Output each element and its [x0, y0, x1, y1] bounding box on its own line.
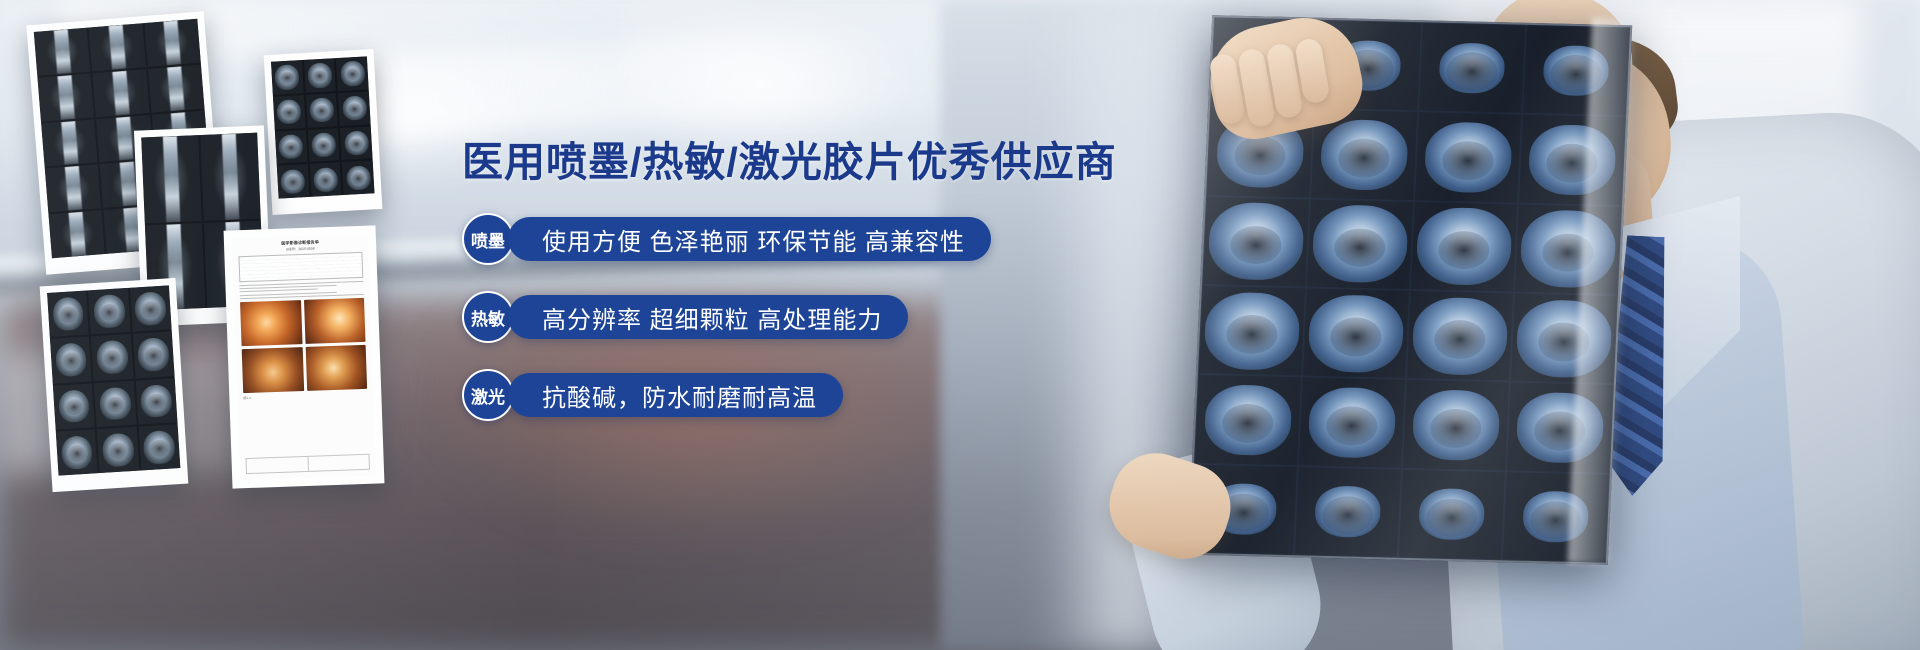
mri-slice — [1199, 286, 1305, 376]
report-image-grid — [240, 298, 367, 393]
film-slice — [88, 288, 130, 335]
feature-tag-thermal: 热敏 — [462, 291, 514, 343]
film-slice — [271, 60, 303, 94]
film-slice — [41, 119, 98, 167]
feature-row-thermal: 热敏 高分辨率 超细颗粒 高处理能力 — [462, 291, 1082, 343]
page-title: 医用喷墨/热敏/激光胶片优秀供应商 — [462, 138, 1082, 187]
banner-content: 医用喷墨/热敏/激光胶片优秀供应商 喷墨 使用方便 色泽艳丽 环保节能 高兼容性… — [462, 138, 1082, 447]
film-slice — [336, 56, 368, 90]
feature-text-thermal: 高分辨率 超细颗粒 高处理能力 — [508, 295, 908, 339]
film-slice — [342, 161, 374, 195]
film-slice — [273, 95, 305, 129]
film-slice — [306, 93, 338, 127]
fundus-photo — [240, 300, 302, 346]
feature-text-inkjet: 使用方便 色泽艳丽 环保节能 高兼容性 — [508, 217, 991, 261]
mri-slice — [1399, 469, 1505, 559]
report-signature-cell — [308, 455, 369, 471]
film-slice — [338, 91, 370, 125]
report-line — [240, 285, 337, 289]
film-slice — [135, 378, 177, 425]
report-signature-table — [245, 454, 369, 474]
report-text-lines — [239, 281, 363, 300]
film-slice — [200, 133, 261, 221]
mri-slice — [1407, 291, 1513, 381]
film-slice — [50, 337, 92, 384]
doctor-figure — [1040, 0, 1920, 650]
film-slice — [48, 210, 105, 258]
medical-film-stack: 医学影像诊断报告单 X线号：2025-0508 图1-4 — [0, 0, 430, 650]
film-slice — [277, 164, 309, 198]
mri-slice — [1411, 202, 1517, 292]
mri-slice — [1415, 113, 1521, 203]
film-slice — [130, 285, 172, 332]
background-light-glow-1 — [600, 8, 920, 158]
film-slice — [45, 165, 102, 213]
film-slice — [340, 126, 372, 160]
film-sheet-brain-mri-top — [264, 49, 383, 215]
film-slice — [94, 380, 136, 427]
film-slice — [34, 28, 91, 76]
film-slice — [47, 291, 89, 338]
film-sheet-brain-mri-bottom — [40, 278, 189, 492]
feature-list: 喷墨 使用方便 色泽艳丽 环保节能 高兼容性 热敏 高分辨率 超细颗粒 高处理能… — [462, 213, 1082, 421]
film-plate — [47, 285, 180, 475]
film-slice — [37, 73, 94, 121]
mri-slice — [1419, 23, 1525, 113]
feature-text-laser: 抗酸碱，防水耐磨耐高温 — [508, 373, 843, 417]
film-slice — [138, 424, 180, 471]
feature-row-inkjet: 喷墨 使用方便 色泽艳丽 环保节能 高兼容性 — [462, 213, 1082, 265]
mri-slice — [1403, 380, 1509, 470]
film-slice — [93, 69, 150, 117]
film-slice — [91, 334, 133, 381]
film-slice — [89, 23, 146, 71]
film-slice — [53, 383, 95, 430]
report-signature-cell — [247, 457, 309, 473]
fundus-photo — [242, 347, 304, 393]
mri-slice — [1295, 467, 1401, 557]
film-plate — [271, 56, 374, 198]
film-slice — [309, 162, 341, 196]
fundus-photo — [304, 298, 366, 344]
feature-row-laser: 激光 抗酸碱，防水耐磨耐高温 — [462, 369, 1082, 421]
film-slice — [97, 426, 139, 473]
film-slice — [304, 58, 336, 92]
film-slice — [275, 129, 307, 163]
banner-stage: 医学影像诊断报告单 X线号：2025-0508 图1-4 — [0, 0, 1920, 650]
mri-slice — [1299, 378, 1405, 468]
report-sheet: 医学影像诊断报告单 X线号：2025-0508 图1-4 — [232, 234, 376, 481]
film-slice — [144, 19, 201, 67]
mri-slice — [1195, 375, 1301, 465]
film-slice-grid — [271, 56, 374, 198]
film-slice — [141, 135, 202, 223]
mri-slice — [1307, 199, 1413, 289]
mri-slice — [1303, 288, 1409, 378]
film-sheet-diagnostic-report: 医学影像诊断报告单 X线号：2025-0508 图1-4 — [224, 225, 385, 488]
report-info-box — [238, 252, 363, 282]
mri-slice — [1203, 197, 1309, 287]
film-slice — [307, 128, 339, 162]
fundus-photo — [305, 345, 367, 391]
film-slice — [56, 429, 98, 476]
film-slice — [132, 332, 174, 379]
feature-tag-laser: 激光 — [462, 369, 514, 421]
report-caption: 图1-4 — [243, 392, 367, 400]
feature-tag-inkjet: 喷墨 — [462, 213, 514, 265]
film-slice-grid — [47, 285, 180, 475]
film-slice — [148, 64, 205, 112]
